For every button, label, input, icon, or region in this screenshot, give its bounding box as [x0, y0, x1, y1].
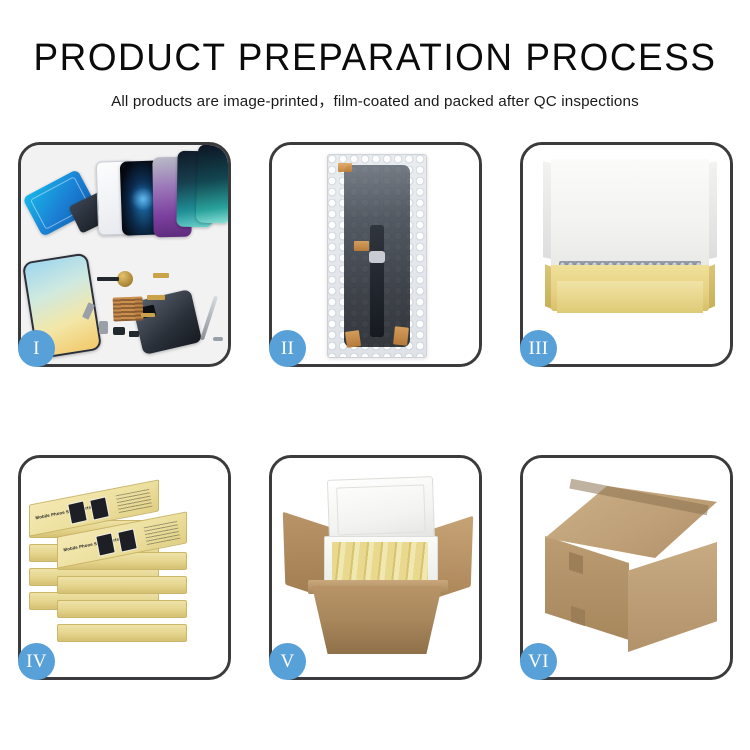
step-4-numeral-badge: IV [18, 643, 55, 680]
box-stack: Mobile Phone Spare Parts Mobile Phone Sp… [21, 458, 228, 677]
speaker-part [117, 271, 133, 287]
box-front-panel [557, 281, 703, 313]
flex-cable-part-1 [153, 273, 169, 278]
stack-box-front-4 [57, 624, 187, 642]
process-step-2: II [269, 142, 482, 367]
carton-face-right [628, 542, 717, 652]
page-header: PRODUCT PREPARATION PROCESS All products… [0, 0, 750, 111]
carton-with-foam-box-illustration [272, 458, 479, 677]
process-step-5: V [269, 455, 482, 680]
teal-gradient-screen-2 [196, 145, 228, 224]
step-5-numeral-badge: V [269, 643, 306, 680]
screen-connector [369, 251, 385, 263]
step-6-numeral-badge: VI [520, 643, 557, 680]
stack-box-front-3 [57, 600, 187, 618]
tape-tab-middle [354, 241, 369, 251]
stacked-retail-boxes-illustration: Mobile Phone Spare Parts Mobile Phone Sp… [21, 458, 228, 677]
tape-tab-top [338, 163, 352, 172]
tape-tab-bottom-left [344, 330, 360, 348]
page-title: PRODUCT PREPARATION PROCESS [11, 0, 739, 79]
process-step-3: III [520, 142, 733, 367]
step-3-numeral-badge: III [520, 330, 557, 367]
vibrator-part [129, 331, 139, 337]
box-lid-white [551, 159, 709, 271]
step-1-numeral-badge: I [18, 330, 55, 367]
carton-face-left [545, 536, 629, 640]
process-steps-grid: I II [18, 142, 734, 680]
styrofoam-lid [327, 476, 435, 544]
step-2-image [272, 145, 479, 364]
screen-flex-cable [370, 225, 384, 337]
page-subtitle: All products are image-printed，film-coat… [0, 79, 750, 111]
process-step-1: I [18, 142, 231, 367]
bubble-wrap-bag [327, 154, 427, 358]
carton-tape-tab-lower [571, 606, 585, 627]
phone-screens-and-parts-illustration [21, 145, 228, 364]
small-part-bar [97, 277, 119, 281]
process-step-6: VI [520, 455, 733, 680]
screwdriver-tip [213, 337, 223, 341]
tweezers-tool [200, 296, 218, 341]
bubble-wrapped-screen-illustration [272, 145, 479, 364]
process-step-4: Mobile Phone Spare Parts Mobile Phone Sp… [18, 455, 231, 680]
tape-tab-bottom-right [393, 326, 409, 345]
carton-body [312, 586, 442, 654]
step-1-image [21, 145, 228, 364]
screw-tray-part [113, 296, 144, 321]
step-4-image: Mobile Phone Spare Parts Mobile Phone Sp… [21, 458, 228, 677]
step-6-image [523, 458, 730, 677]
camera-module-part [113, 327, 125, 335]
sim-tray-part [99, 321, 108, 334]
step-2-numeral-badge: II [269, 330, 306, 367]
open-inner-box-illustration [523, 145, 730, 364]
sealed-carton-illustration [523, 458, 730, 677]
yellow-boxes-inside [332, 542, 428, 580]
stack-box-front-2 [57, 576, 187, 594]
flex-cable-part-3 [141, 313, 155, 317]
step-5-image [272, 458, 479, 677]
flex-cable-part-2 [147, 295, 165, 300]
step-3-image [523, 145, 730, 364]
